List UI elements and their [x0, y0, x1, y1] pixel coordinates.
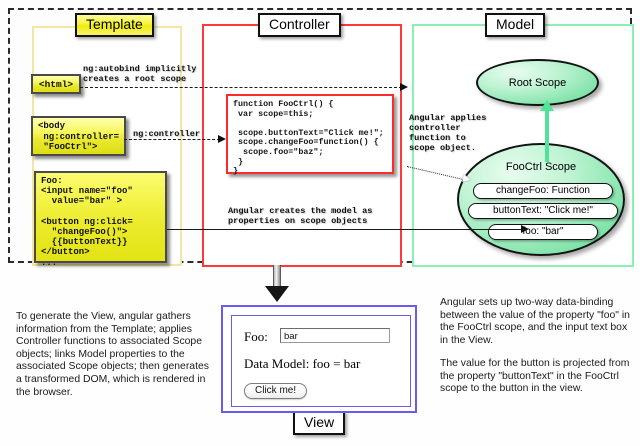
render-arrow-head-icon [265, 286, 289, 302]
fooctrl-scope-ellipse: FooCtrl Scope changeFoo: Function button… [457, 143, 625, 256]
fooctrl-scope-label: FooCtrl Scope [459, 161, 623, 173]
section-title-template: Template [75, 13, 154, 37]
section-title-controller: Controller [258, 13, 341, 37]
model-creation-connector-line [167, 229, 523, 230]
model-creation-arrow-icon [521, 225, 529, 233]
foo-input[interactable]: bar [280, 328, 390, 343]
root-scope-label: Root Scope [478, 77, 597, 89]
ngcontroller-connector-line [124, 139, 220, 140]
autobind-connector-line [80, 87, 402, 88]
angular-architecture-frame: <html> <body ng:controller= "FooCtrl"> F… [8, 8, 632, 263]
template-code-box: Foo: <input name="foo" value="bar" > <bu… [34, 171, 167, 263]
click-me-button[interactable]: Click me! [244, 383, 307, 399]
annotation-creates-model: Angular creates the model as properties … [228, 206, 372, 226]
view-data-model-text: Data Model: foo = bar [244, 356, 360, 372]
root-scope-ellipse: Root Scope [476, 59, 599, 106]
section-title-view: View [293, 411, 345, 435]
ngcontroller-arrow-icon [218, 135, 226, 143]
diagram-canvas: <html> <body ng:controller= "FooCtrl"> F… [0, 0, 640, 446]
scope-property-buttontext: buttonText: "Click me!" [468, 203, 618, 219]
scope-inheritance-arrow-head [540, 100, 554, 111]
scope-property-changefoo: changeFoo: Function [473, 183, 613, 199]
annotation-autobind: ng:autobind implicitly creates a root sc… [83, 64, 196, 84]
caption-button-projection: The value for the button is projected fr… [440, 358, 632, 396]
annotation-applies-controller: Angular applies controller function to s… [409, 113, 486, 153]
section-title-model: Model [485, 13, 545, 37]
autobind-arrow-icon [400, 83, 408, 91]
scope-property-foo: foo: "bar" [488, 224, 598, 240]
annotation-ng-controller: ng:controller [133, 129, 200, 139]
view-foo-label: Foo: [244, 329, 268, 345]
view-inner-frame: Foo: bar Data Model: foo = bar Click me! [231, 315, 411, 407]
body-tag-box: <body ng:controller= "FooCtrl"> [31, 116, 126, 156]
controller-code-box: function FooCtrl() { var scope=this; sco… [226, 94, 394, 174]
view-panel: Foo: bar Data Model: foo = bar Click me! [221, 305, 417, 413]
caption-two-way-binding: Angular sets up two-way data-binding bet… [440, 297, 632, 347]
html-tag-box: <html> [31, 74, 81, 94]
caption-generate-view: To generate the View, angular gathers in… [16, 311, 212, 399]
scope-inheritance-arrow-stem [545, 108, 549, 162]
